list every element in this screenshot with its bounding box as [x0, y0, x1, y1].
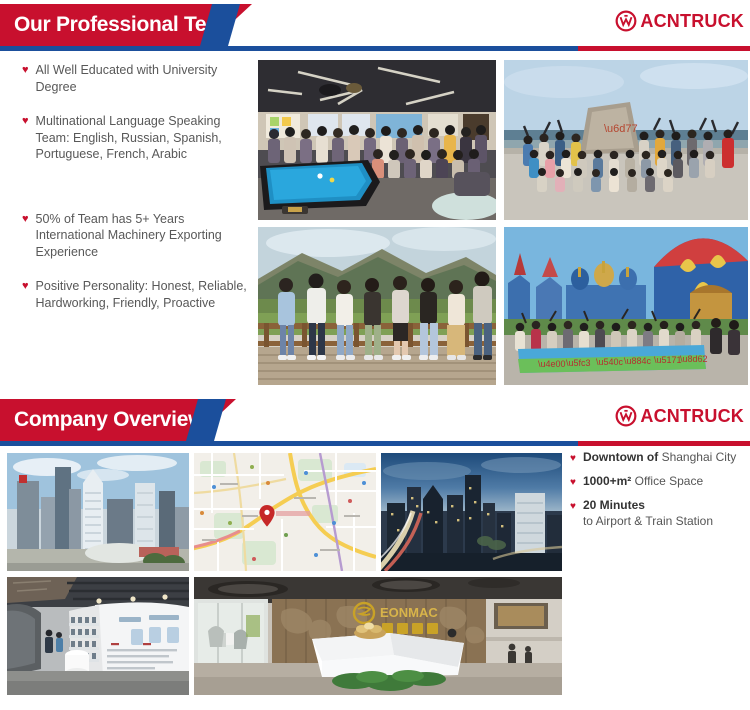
overview-bullet-text-1: Downtown of Shanghai City: [583, 449, 736, 465]
overview-bullet-rest-1: Shanghai City: [658, 450, 736, 464]
overview-banner: Company Overview ACNTRUCK: [0, 395, 750, 447]
overview-highlights-list: ♥ Downtown of Shanghai City ♥ 1000+m² Of…: [570, 449, 748, 536]
team-banner: Our Professional Team ACNTRUCK: [0, 0, 750, 52]
overview-bullet-item-1: ♥ Downtown of Shanghai City: [570, 449, 748, 466]
office-reception-lobby: EONMAC: [194, 577, 562, 695]
team-photo-3-graphic: [258, 227, 496, 385]
overview-photo-5-graphic: EONMAC: [194, 577, 562, 695]
heart-bullet-icon: ♥: [22, 114, 29, 129]
overview-bullet-item-3: ♥ 20 Minutesto Airport & Train Station: [570, 497, 748, 529]
team-rule-red-segment: [578, 46, 750, 51]
team-group-photo-mountain-deck: [258, 227, 496, 385]
team-bullet-item-1: ♥ All Well Educated with University Degr…: [22, 62, 250, 95]
heart-bullet-icon: ♥: [570, 475, 576, 490]
team-group-photo-theme-park-banner: \u4e00\u5fc3\u540c \u884c\u5171\u8d62: [504, 227, 748, 385]
svg-text:\u6d77: \u6d77: [604, 123, 638, 135]
office-interior-display-wall: [7, 577, 189, 695]
overview-bullet-rest-3: to Airport & Train Station: [583, 514, 713, 528]
team-bullet-item-2: ♥ Multinational Language Speaking Team: …: [22, 113, 250, 163]
brand-name-bottom: ACNTRUCK: [640, 406, 744, 427]
overview-banner-rule: [0, 441, 750, 446]
overview-photo-row-1: [0, 453, 563, 571]
svg-text:\u5fc3: \u5fc3: [566, 358, 591, 368]
section-gap: [0, 385, 750, 395]
acntruck-circular-mark-icon: [615, 10, 637, 32]
bullet-group-spacer: [22, 181, 250, 211]
overview-section-body: EONMAC: [0, 447, 750, 695]
overview-photo-1-graphic: [7, 453, 189, 571]
city-skyline-dusk-highway: [381, 453, 562, 571]
overview-rule-blue-segment: [0, 441, 578, 446]
heart-bullet-icon: ♥: [570, 451, 576, 466]
team-photo-grid: \u6d77: [258, 56, 748, 385]
overview-bullet-strong-3: 20 Minutes: [583, 498, 645, 512]
team-group-photo-seaside-monument: \u6d77: [504, 60, 748, 220]
team-banner-title: Our Professional Team: [0, 13, 236, 37]
svg-text:\u8d62: \u8d62: [680, 354, 708, 364]
team-bullet-item-4: ♥ Positive Personality: Honest, Reliable…: [22, 278, 250, 311]
overview-bullet-text-3: 20 Minutesto Airport & Train Station: [583, 497, 713, 529]
team-banner-rule: [0, 46, 750, 51]
heart-bullet-icon: ♥: [22, 63, 29, 78]
overview-banner-title: Company Overview: [0, 408, 204, 432]
overview-bullet-strong-1: Downtown of: [583, 450, 658, 464]
location-street-map: [194, 453, 376, 571]
heart-bullet-icon: ♥: [570, 499, 576, 514]
overview-photo-row-2: EONMAC: [0, 571, 563, 695]
team-bullet-text-2: Multinational Language Speaking Team: En…: [36, 113, 250, 163]
city-skyline-daytime: [7, 453, 189, 571]
overview-bullet-text-2: 1000+m² Office Space: [583, 473, 703, 489]
team-group-photo-office-pool-table: [258, 60, 496, 220]
overview-photo-4-graphic: [7, 577, 189, 695]
reception-sign-text: EONMAC: [380, 605, 438, 620]
overview-photo-3-graphic: [381, 453, 562, 571]
brand-logo-bottom: ACNTRUCK: [615, 405, 744, 427]
overview-bullet-rest-2: Office Space: [631, 474, 703, 488]
overview-rule-red-segment: [578, 441, 750, 446]
team-bullet-text-1: All Well Educated with University Degree: [36, 62, 250, 95]
svg-text:\u4e00: \u4e00: [538, 359, 566, 369]
team-bullet-item-3: ♥ 50% of Team has 5+ Years International…: [22, 211, 250, 261]
team-bullet-text-4: Positive Personality: Honest, Reliable, …: [36, 278, 250, 311]
svg-text:\u884c: \u884c: [624, 356, 652, 366]
overview-bullet-strong-2: 1000+m²: [583, 474, 631, 488]
team-bullet-list: ♥ All Well Educated with University Degr…: [0, 56, 258, 385]
heart-bullet-icon: ♥: [22, 279, 29, 294]
team-section-body: ♥ All Well Educated with University Degr…: [0, 52, 750, 385]
company-profile-page: Our Professional Team ACNTRUCK ♥ All Wel…: [0, 0, 750, 710]
team-bullet-text-3: 50% of Team has 5+ Years International M…: [36, 211, 250, 261]
svg-text:\u540c: \u540c: [596, 357, 624, 367]
overview-bullet-item-2: ♥ 1000+m² Office Space: [570, 473, 748, 490]
acntruck-circular-mark-icon: [615, 405, 637, 427]
team-rule-blue-segment: [0, 46, 578, 51]
heart-bullet-icon: ♥: [22, 212, 29, 227]
brand-logo-top: ACNTRUCK: [615, 10, 744, 32]
team-photo-4-graphic: \u4e00\u5fc3\u540c \u884c\u5171\u8d62: [504, 227, 748, 385]
overview-photo-2-graphic: [194, 453, 376, 571]
team-photo-2-graphic: \u6d77: [504, 60, 748, 220]
svg-text:\u5171: \u5171: [654, 355, 682, 365]
team-photo-1-graphic: [258, 60, 496, 220]
brand-name-top: ACNTRUCK: [640, 11, 744, 32]
